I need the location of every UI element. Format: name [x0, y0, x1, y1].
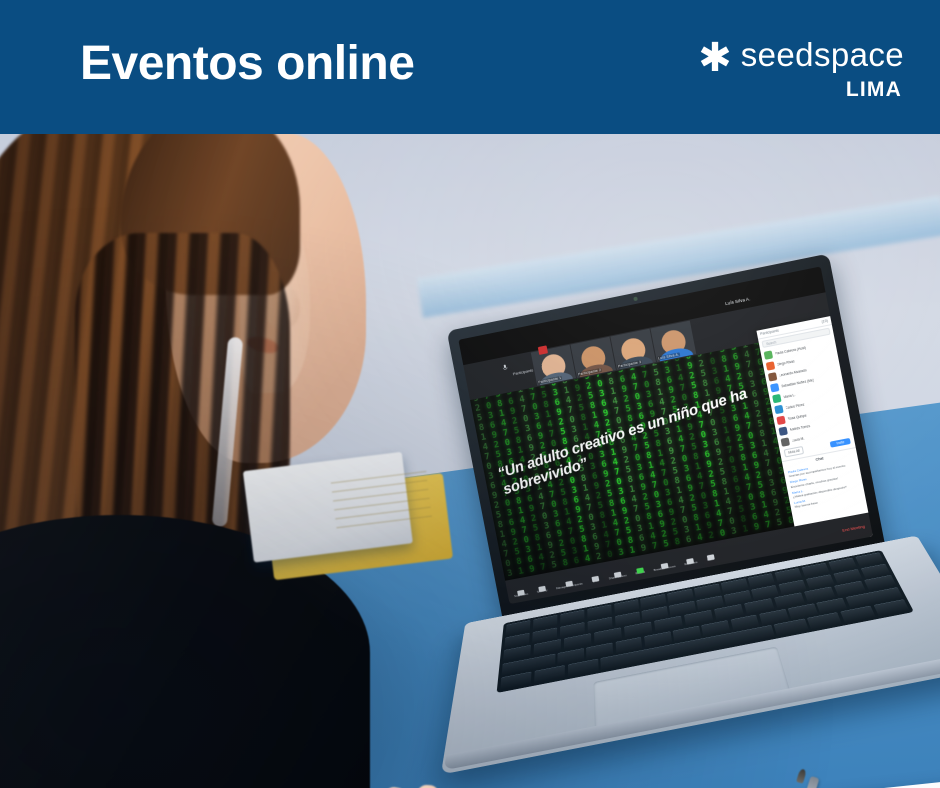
participant-name: Andrés Torres: [789, 424, 810, 432]
participant-name: Diego Rivas: [776, 359, 794, 366]
toolbar-item-stop-video[interactable]: Stop Video: [512, 582, 529, 597]
toolbar-item-breakout-rooms[interactable]: Breakout Rooms: [651, 555, 675, 572]
header-banner: Eventos online ✱ seedspace LIMA: [0, 0, 940, 134]
page-title: Eventos online: [80, 40, 414, 88]
toolbar-item-share-screen[interactable]: Share Screen: [607, 564, 627, 580]
avatar: [768, 372, 777, 381]
toolbar-item-chat[interactable]: Chat: [589, 569, 600, 583]
brand-logo: ✱ seedspace LIMA: [674, 38, 904, 110]
avatar: [774, 404, 783, 413]
laptop-screen[interactable]: 0 3 6 9 2 5 8 1 4 7 0 3 6 9 2 5 8 1 4 7 …: [458, 266, 873, 604]
asterisk-icon: ✱: [698, 43, 732, 73]
panel-title: Participants: [760, 328, 779, 336]
toolbar-item-more[interactable]: More: [704, 547, 715, 561]
avatar: [778, 426, 787, 435]
promo-card: Eventos online ✱ seedspace LIMA: [0, 0, 940, 788]
finger: [403, 784, 448, 788]
more-icon: [704, 547, 714, 557]
scene-photo: 0 3 6 9 2 5 8 1 4 7 0 3 6 9 2 5 8 1 4 7 …: [0, 133, 940, 788]
notebook: [243, 446, 467, 601]
left-hand: [330, 763, 520, 788]
panel-count: (10): [821, 319, 828, 324]
avatar: [770, 383, 779, 392]
record-icon: [634, 561, 644, 570]
logo-wordmark: seedspace: [741, 38, 904, 71]
reactions-icon: [684, 551, 694, 561]
avatar: [780, 437, 789, 446]
participant-name: Carlos Pérez: [785, 402, 805, 410]
chat-icon: [589, 569, 599, 578]
invite-button[interactable]: Invite: [830, 438, 851, 448]
filmstrip-label: Participants: [512, 367, 533, 376]
participant-name: Rosa Quispe: [787, 413, 807, 421]
toolbar-item-manage-participants[interactable]: Manage Participants: [554, 572, 583, 590]
video-tile[interactable]: Participante 1: [531, 345, 576, 386]
shield-icon: [536, 579, 546, 588]
avatar: [772, 393, 781, 402]
logo-lockup: ✱ seedspace: [698, 38, 904, 71]
video-tile[interactable]: Participante 2: [570, 337, 615, 378]
active-speaker-label: Luís Silva A.: [725, 296, 751, 306]
laptop: 0 3 6 9 2 5 8 1 4 7 0 3 6 9 2 5 8 1 4 7 …: [410, 249, 940, 788]
avatar: [764, 350, 773, 359]
toolbar-item-security[interactable]: Security: [535, 579, 548, 594]
rooms-icon: [658, 556, 668, 565]
mic-icon: [500, 357, 508, 365]
video-tile[interactable]: Participante 3: [610, 329, 656, 370]
participant-name: Lucía M.: [791, 436, 804, 442]
share-icon: [611, 565, 621, 574]
webcam-icon: [633, 297, 638, 302]
video-tile[interactable]: Luís Silva A.: [650, 321, 696, 362]
finger: [363, 784, 416, 788]
mute-all-button[interactable]: Mute All: [784, 446, 805, 458]
end-meeting-button[interactable]: End Meeting: [842, 523, 865, 532]
logo-city-label: LIMA: [846, 78, 902, 102]
participant-name: María L.: [783, 393, 796, 399]
video-icon: [515, 583, 525, 592]
toolbar-item-reactions[interactable]: Reactions: [682, 551, 698, 566]
avatar: [766, 361, 775, 370]
avatar: [776, 415, 785, 424]
participants-icon: [563, 574, 573, 583]
toolbar-item-record[interactable]: Record: [633, 561, 645, 575]
